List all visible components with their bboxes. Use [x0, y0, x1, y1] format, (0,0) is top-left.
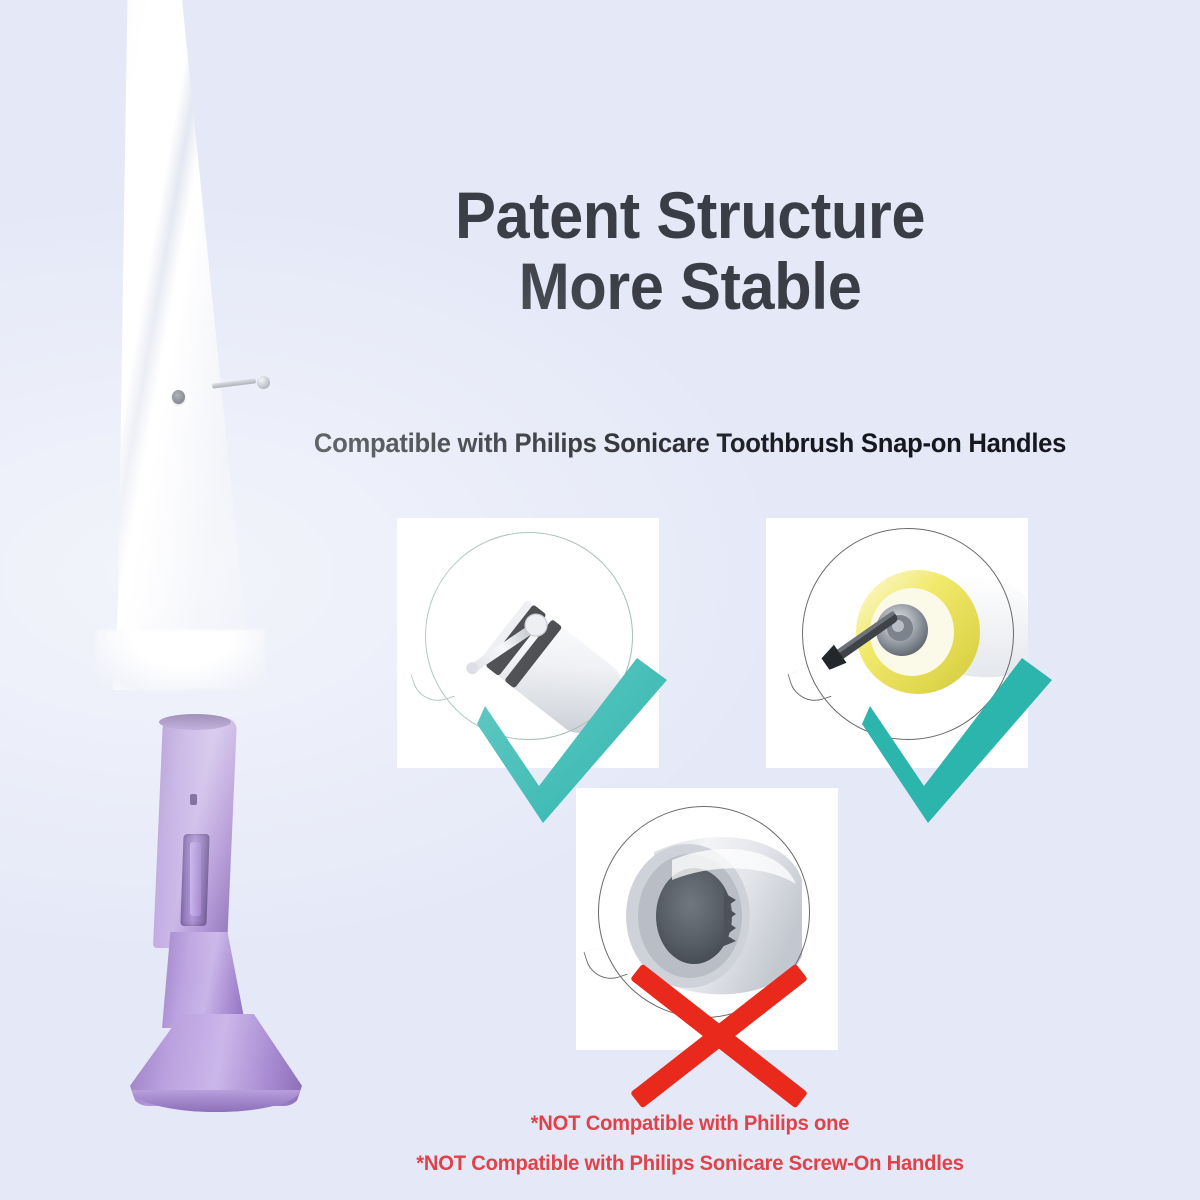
purple-snap-on-base	[128, 718, 308, 1118]
page-title-line-1: Patent Structure	[455, 178, 925, 252]
cross-mark-icon-card-3	[614, 936, 824, 1136]
warning-text-1: *NOT Compatible with Philips one	[220, 1112, 1161, 1136]
brush-head-highlight	[28, 0, 278, 690]
metal-pin-icon	[172, 390, 185, 404]
compatibility-card-black-handle	[397, 518, 659, 768]
purple-snap-tab	[190, 842, 201, 916]
warning-text-2: *NOT Compatible with Philips Sonicare Sc…	[220, 1152, 1161, 1176]
purple-vent-hole	[190, 794, 197, 805]
purple-base-ring	[132, 1090, 300, 1112]
purple-neck	[162, 932, 246, 1028]
page-title: Patent Structure More Stable	[309, 180, 1072, 323]
screw-shaft	[212, 378, 256, 388]
compatibility-card-screw-on-handle	[576, 788, 838, 1050]
purple-barrel-opening	[159, 714, 232, 730]
page-subtitle: Compatible with Philips Sonicare Toothbr…	[225, 428, 1156, 459]
brush-head-base-shadow	[96, 630, 266, 690]
screw-head	[257, 376, 270, 389]
page-title-line-2: More Stable	[309, 251, 1072, 322]
metal-screw-icon	[212, 374, 270, 392]
check-mark-icon-card-2	[862, 658, 1052, 823]
infographic-canvas: Patent Structure More Stable Compatible …	[0, 0, 1200, 1200]
compatibility-card-yellow-handle	[766, 518, 1028, 768]
